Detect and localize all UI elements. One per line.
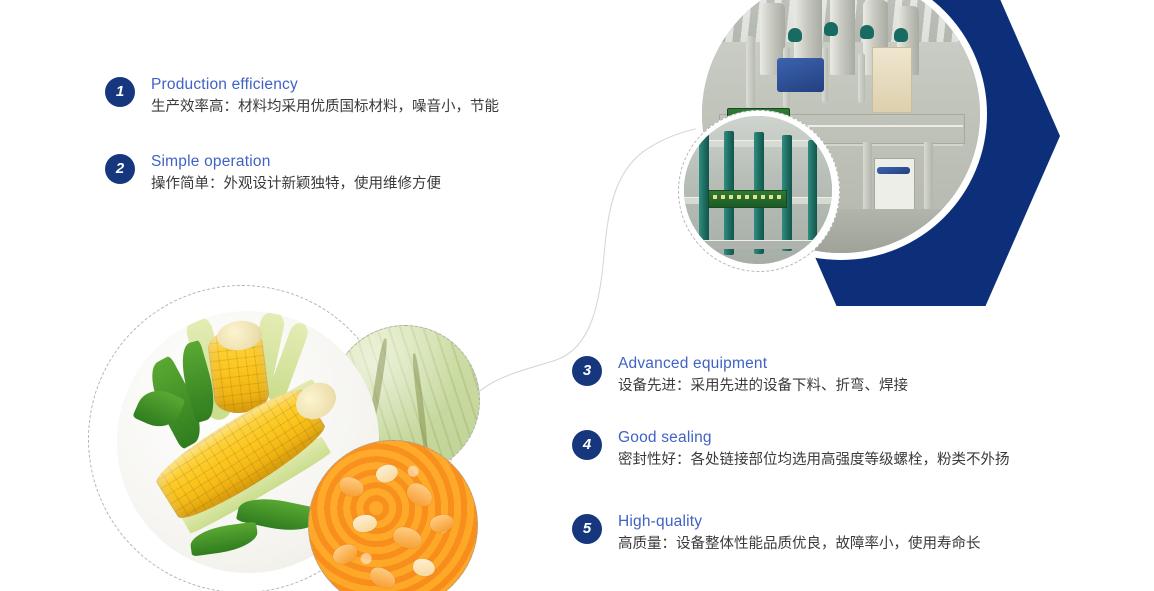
machinery-small-photo [684,116,832,264]
feature-badge-3: 3 [572,356,602,386]
feature-text-1: Production efficiency 生产效率高：材料均采用优质国标材料，… [151,75,499,118]
feature-badge-5: 5 [572,514,602,544]
feature-title-3: Advanced equipment [618,354,908,373]
feature-desc-5: 高质量：设备整体性能品质优良，故障率小，使用寿命长 [618,533,981,555]
feature-desc-1: 生产效率高：材料均采用优质国标材料，噪音小，节能 [151,96,499,118]
feature-text-3: Advanced equipment 设备先进：采用先进的设备下料、折弯、焊接 [618,354,908,397]
feature-title-1: Production efficiency [151,75,499,94]
feature-desc-4: 密封性好：各处链接部位均选用高强度等级螺栓，粉类不外扬 [618,449,1010,471]
corn-grits-photo [308,440,478,591]
feature-item-5[interactable]: 5 High-quality 高质量：设备整体性能品质优良，故障率小，使用寿命长 [572,512,981,555]
feature-desc-2: 操作简单：外观设计新颖独特，使用维修方便 [151,173,441,195]
feature-text-4: Good sealing 密封性好：各处链接部位均选用高强度等级螺栓，粉类不外扬 [618,428,1010,471]
feature-item-4[interactable]: 4 Good sealing 密封性好：各处链接部位均选用高强度等级螺栓，粉类不… [572,428,1010,471]
feature-badge-4: 4 [572,430,602,460]
feature-desc-3: 设备先进：采用先进的设备下料、折弯、焊接 [618,375,908,397]
feature-badge-2: 2 [105,154,135,184]
feature-text-2: Simple operation 操作简单：外观设计新颖独特，使用维修方便 [151,152,441,195]
feature-badge-1: 1 [105,77,135,107]
feature-title-4: Good sealing [618,428,1010,447]
feature-infographic: 1 Production efficiency 生产效率高：材料均采用优质国标材… [0,0,1154,591]
feature-item-1[interactable]: 1 Production efficiency 生产效率高：材料均采用优质国标材… [105,75,499,118]
feature-title-2: Simple operation [151,152,441,171]
feature-item-3[interactable]: 3 Advanced equipment 设备先进：采用先进的设备下料、折弯、焊… [572,354,908,397]
feature-text-5: High-quality 高质量：设备整体性能品质优良，故障率小，使用寿命长 [618,512,981,555]
feature-title-5: High-quality [618,512,981,531]
feature-item-2[interactable]: 2 Simple operation 操作简单：外观设计新颖独特，使用维修方便 [105,152,441,195]
